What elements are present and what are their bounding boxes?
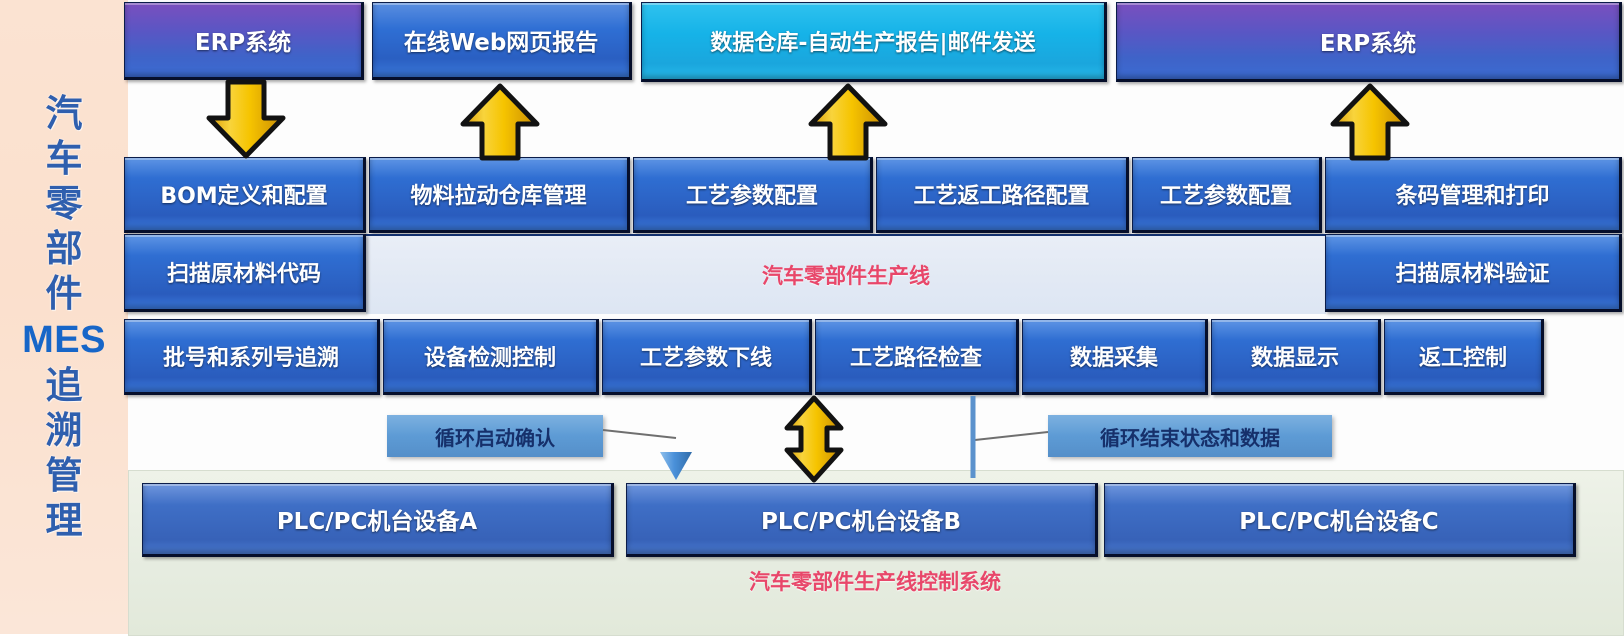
sidebar-char-7: 管 [46,454,83,498]
mes-box-rework-control[interactable]: 返工控制 [1384,319,1544,395]
production-line-strip: 汽车零部件生产线 [366,234,1326,314]
sidebar-char-3: 部 [46,227,83,271]
callout-cycle-end-status-data[interactable]: 循环结束状态和数据 [1048,415,1332,457]
sidebar-mes-label: MES [22,317,106,363]
mes-box-material-pull-warehouse[interactable]: 物料拉动仓库管理 [369,157,630,233]
sidebar-char-2: 零 [46,182,83,226]
sidebar-title-band: 汽 车 零 部 件 MES 追 溯 管 理 [0,0,128,634]
mes-box-process-path-check[interactable]: 工艺路径检查 [815,319,1019,395]
mes-box-data-display[interactable]: 数据显示 [1211,319,1381,395]
sidebar-char-1: 车 [46,137,83,181]
mes-box-barcode-management[interactable]: 条码管理和打印 [1325,157,1622,233]
arrow-up-rework-to-data-warehouse [811,86,885,158]
mes-box-equipment-inspection-control[interactable]: 设备检测控制 [383,319,599,395]
arrow-up-material-to-web-report [463,86,537,158]
top-box-web-report[interactable]: 在线Web网页报告 [372,2,632,80]
control-system-label: 汽车零部件生产线控制系统 [128,566,1622,596]
mes-box-scan-raw-material-verify[interactable]: 扫描原材料验证 [1325,234,1622,312]
mes-box-process-param-offline[interactable]: 工艺参数下线 [602,319,812,395]
callout-cycle-start-confirm[interactable]: 循环启动确认 [387,415,603,457]
mes-box-bom-definition[interactable]: BOM定义和配置 [124,157,366,233]
sidebar-char-4: 件 [46,272,83,316]
top-box-erp-right[interactable]: ERP系统 [1116,2,1622,82]
leader-line-cycle-end [973,396,1048,478]
plc-box-device-a[interactable]: PLC/PC机台设备A [142,483,614,557]
mes-box-process-param-config-1[interactable]: 工艺参数配置 [633,157,873,233]
mes-box-rework-path-config[interactable]: 工艺返工路径配置 [876,157,1129,233]
plc-box-device-c[interactable]: PLC/PC机台设备C [1104,483,1576,557]
mes-box-scan-raw-material-code[interactable]: 扫描原材料代码 [124,234,366,312]
arrow-double-plc-b-exchange [787,398,841,480]
mes-box-data-collection[interactable]: 数据采集 [1022,319,1208,395]
arrow-down-blue-to-plc [660,396,692,480]
diagram-canvas: 汽 车 零 部 件 MES 追 溯 管 理 汽车零部件生产线控制系统 ERP系统… [0,0,1624,634]
plc-box-device-b[interactable]: PLC/PC机台设备B [626,483,1098,557]
top-box-data-warehouse[interactable]: 数据仓库-自动生产报告|邮件发送 [641,2,1107,82]
production-line-label: 汽车零部件生产线 [762,260,930,290]
sidebar-char-6: 溯 [46,409,83,453]
top-box-erp-left[interactable]: ERP系统 [124,2,364,80]
arrow-up-barcode-to-erp [1333,86,1407,158]
arrow-down-erp-to-bom [209,82,283,156]
mes-box-process-param-config-2[interactable]: 工艺参数配置 [1132,157,1322,233]
sidebar-char-5: 追 [46,364,83,408]
leader-line-cycle-start [603,430,676,438]
mes-box-lot-serial-trace[interactable]: 批号和系列号追溯 [124,319,380,395]
sidebar-char-0: 汽 [46,92,83,136]
sidebar-char-8: 理 [46,499,83,543]
